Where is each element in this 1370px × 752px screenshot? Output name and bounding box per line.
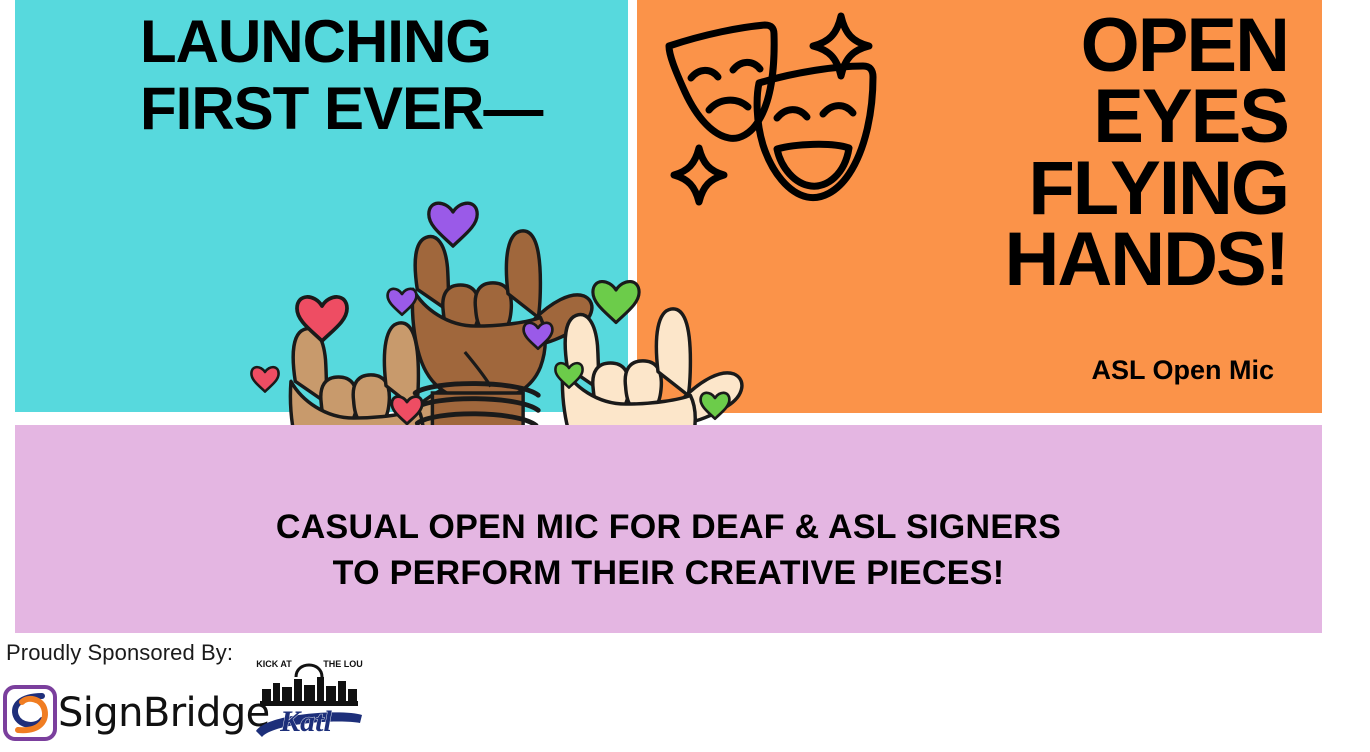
headline-line-1: LAUNCHING xyxy=(140,8,610,75)
signbridge-mark-icon xyxy=(2,684,58,742)
sponsor-label: Proudly Sponsored By: xyxy=(6,640,233,666)
title-subtitle: ASL Open Mic xyxy=(854,355,1274,386)
poster-canvas: LAUNCHING FIRST EVER— OPEN EYES FLYING H… xyxy=(0,0,1370,752)
heart-icon xyxy=(593,282,639,323)
title-line-1: OPEN xyxy=(728,10,1288,81)
banner-line-2: TO PERFORM THEIR CREATIVE PIECES! xyxy=(15,551,1322,597)
title-line-4: HANDS! xyxy=(728,224,1288,295)
title-line-3: FLYING xyxy=(728,153,1288,224)
main-title: OPEN EYES FLYING HANDS! xyxy=(728,10,1288,296)
katl-wordmark: Katl xyxy=(279,705,332,738)
heart-icon xyxy=(251,367,278,391)
katl-arch-text-left: KICK AT xyxy=(256,659,292,669)
sponsor-logo-katl: KICK AT THE LOU Katl xyxy=(248,653,370,748)
title-line-2: EYES xyxy=(728,81,1288,152)
headline: LAUNCHING FIRST EVER— xyxy=(140,8,610,142)
banner-text: CASUAL OPEN MIC FOR DEAF & ASL SIGNERS T… xyxy=(15,505,1322,597)
signbridge-wordmark: SignBridge xyxy=(58,690,270,736)
heart-icon xyxy=(555,363,582,387)
banner-line-1: CASUAL OPEN MIC FOR DEAF & ASL SIGNERS xyxy=(15,505,1322,551)
sponsor-logo-signbridge: SignBridge xyxy=(0,684,240,746)
katl-arch-text-right: THE LOU xyxy=(323,659,363,669)
headline-line-2: FIRST EVER— xyxy=(140,75,610,142)
